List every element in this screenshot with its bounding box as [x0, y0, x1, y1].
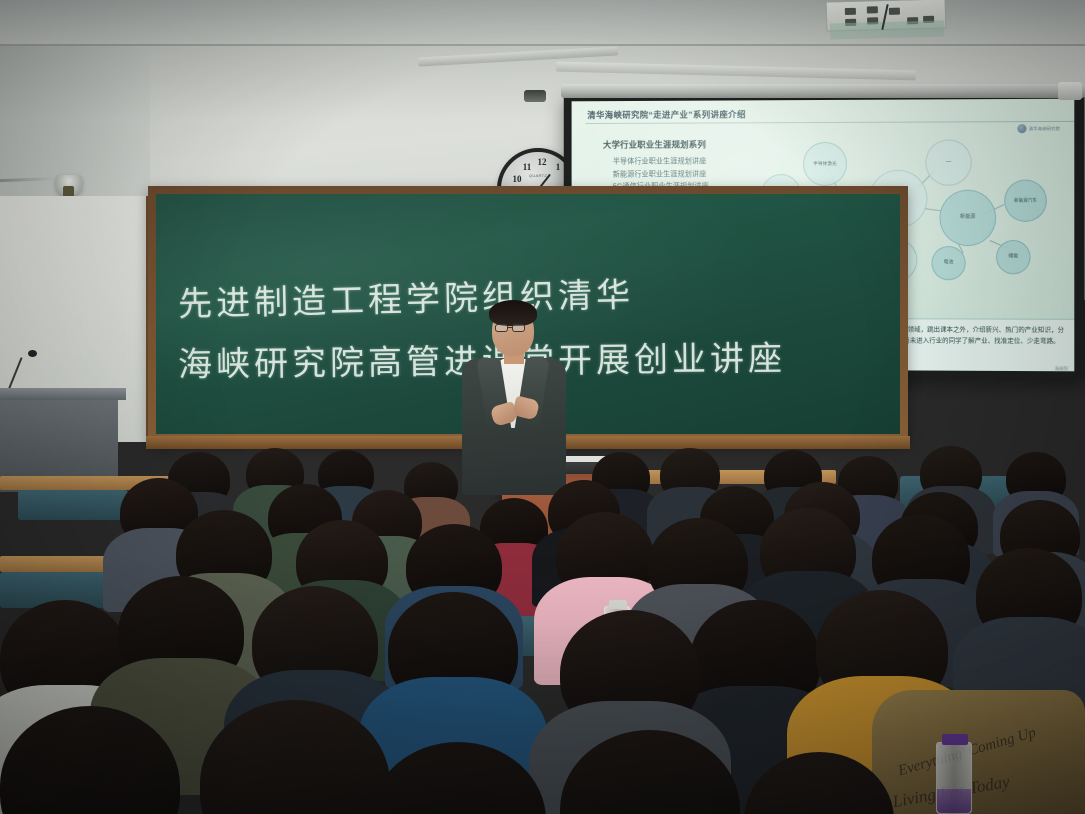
audience-member [760, 508, 856, 596]
bubble-node: 电池 [931, 246, 965, 280]
microphone-icon [28, 350, 37, 357]
institute-logo-icon [1018, 124, 1027, 133]
note-tag: 海峡院 [1054, 366, 1068, 371]
audience-member [556, 512, 654, 602]
section-heading: 大学行业职业生涯规划系列 [603, 138, 771, 151]
slide-title-divider [585, 121, 1074, 124]
bubble-node: — [925, 139, 971, 185]
ceiling-sensor [524, 90, 546, 102]
bottle-cap [942, 734, 968, 745]
clock-numeral: 11 [520, 162, 534, 172]
bubble-node: 新能源 [939, 190, 996, 246]
eyeglasses-bridge [508, 327, 512, 328]
presenter-speaker [448, 300, 578, 495]
audience-member [118, 576, 244, 690]
screen-roller-casing [561, 84, 1085, 98]
audience-member [200, 700, 390, 814]
audience-member [252, 586, 378, 702]
wall-mounted-speaker [56, 175, 82, 195]
eyeglasses-icon [495, 324, 508, 332]
presenter-hair [489, 300, 537, 326]
audience-member [370, 742, 546, 814]
list-item: 新能源行业职业生涯规划讲座 [613, 168, 771, 181]
clock-brand-text: QUARTZ [529, 173, 547, 178]
screen-roller-end-cap [1058, 82, 1082, 100]
bottle-cap [609, 600, 627, 609]
audience-member [744, 752, 894, 814]
seat-back [18, 490, 128, 520]
slide-logo-text: 清华海峡研究院 [1029, 125, 1060, 131]
teacher-desk-top [0, 388, 126, 400]
clock-numeral: 10 [510, 174, 524, 184]
audience-member [648, 518, 748, 610]
audience-member [560, 730, 740, 814]
list-item: 半导体行业职业生涯规划讲座 [613, 155, 771, 168]
bubble-node: 新能源汽车 [1004, 180, 1047, 222]
audience-member [1006, 452, 1066, 506]
bubble-node: 储能 [996, 240, 1030, 274]
bubble-node: 半导体激光 [803, 142, 847, 186]
clock-numeral: 12 [535, 157, 549, 167]
eyeglasses-icon [512, 324, 525, 332]
slide-logo: 清华海峡研究院 [1018, 124, 1060, 133]
audience-member [388, 592, 518, 710]
audience-member [976, 548, 1082, 644]
slide-title: 清华海峡研究院“走进产业”系列讲座介绍 [587, 108, 746, 121]
audience-member [560, 610, 700, 736]
panel-glass-cover [830, 21, 944, 40]
water-bottle [936, 742, 972, 814]
audience-member [0, 706, 180, 814]
lecture-hall-photo: QUARTZ 12 1 2 3 4 5 6 7 8 9 10 11 清华海峡研究… [0, 0, 1085, 814]
